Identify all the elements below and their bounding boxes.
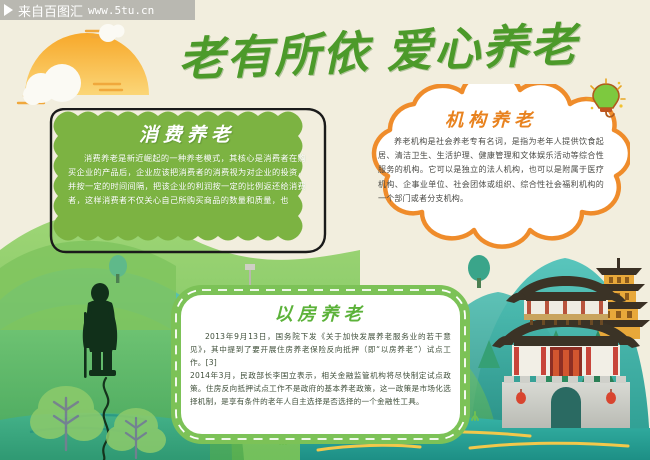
card-consume-title: 消费养老 <box>62 120 312 147</box>
chinese-gate-tower-icon <box>492 276 640 428</box>
card-consume-body: 消费养老是新近崛起的一种养老模式，其核心是消费者在购买企业的产品后，企业应该把消… <box>62 151 312 207</box>
card-house-pension: 以房养老 2013年9月13日，国务院下发《关于加快发展养老服务业的若干意见》，… <box>168 282 473 447</box>
card-consume-pension: 消费养老 消费养老是新近崛起的一种养老模式，其核心是消费者在购买企业的产品后，企… <box>48 108 328 254</box>
card-organization-body: 养老机构是社会养老专有名词，是指为老年人提供饮食起居、清洁卫生、生活护理、健康管… <box>378 135 604 206</box>
card-organization-title: 机构养老 <box>378 106 604 132</box>
lightbulb-icon <box>586 78 626 124</box>
watermark-source: 来自百图汇 <box>18 1 83 20</box>
card-house-title: 以房养老 <box>190 300 451 326</box>
watermark: 来自百图汇 www.5tu.cn <box>0 0 195 20</box>
page-title-part1: 老有所依 <box>177 16 371 89</box>
watermark-url: www.5tu.cn <box>88 4 154 17</box>
page-title-part2: 爱心养老 <box>385 8 579 81</box>
play-triangle-icon <box>4 4 13 16</box>
poster-canvas: 来自百图汇 www.5tu.cn 老有所依 爱心养老 消费养老 消费养老是新近崛… <box>0 0 650 460</box>
card-house-paragraph-2: 2014年3月，民政部长李国立表示，相关金融监管机构将尽快制定试点政策。住房反向… <box>190 369 451 408</box>
card-house-paragraph-1: 2013年9月13日，国务院下发《关于加快发展养老服务业的若干意见》，其中提到了… <box>190 330 451 369</box>
